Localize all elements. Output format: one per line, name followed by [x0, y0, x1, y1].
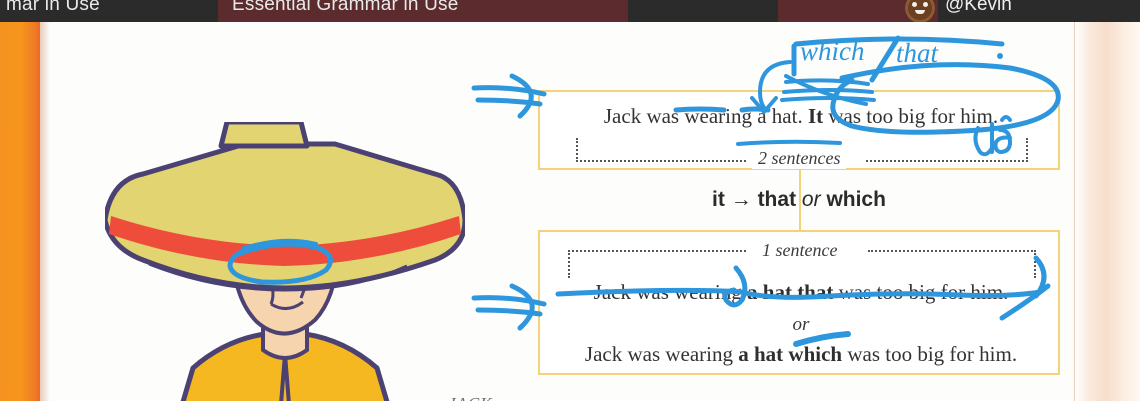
book-page: JACK Jack was wearing a hat. It was too …: [0, 22, 1140, 401]
one-sentence-text-that: Jack was wearing a hat that was too big …: [540, 280, 1062, 305]
topbar-title-left-partial[interactable]: mar in Use: [6, 0, 100, 16]
which-sentence-highlight: a hat which: [738, 342, 842, 366]
that-sentence-part-1: Jack was wearing: [594, 280, 747, 304]
transformation-rule: it → that or which: [538, 188, 1060, 212]
two-sentence-highlight-it: It: [808, 104, 823, 128]
two-sentence-caption: 2 sentences: [752, 148, 846, 169]
two-sentence-part-1: Jack was wearing a hat.: [604, 104, 808, 128]
rule-option-which: which: [826, 188, 886, 211]
avatar-eye-left: [912, 2, 917, 7]
two-sentence-text: Jack was wearing a hat. It was too big f…: [540, 104, 1062, 129]
illustration-caption: JACK: [448, 394, 493, 401]
bracket-line-left: [576, 160, 746, 162]
channel-handle[interactable]: @Kevin: [945, 0, 1012, 16]
two-sentence-part-3: was too big for him.: [823, 104, 998, 128]
bracket-tick-right-2: [1034, 250, 1036, 278]
grammar-diagram: Jack was wearing a hat. It was too big f…: [538, 68, 1060, 378]
bracket-line-left-2: [568, 250, 746, 252]
two-sentence-box: Jack was wearing a hat. It was too big f…: [538, 90, 1060, 170]
which-sentence-part-3: was too big for him.: [842, 342, 1017, 366]
page-binding-shadow: [40, 22, 50, 401]
page-binding-left: [0, 22, 40, 401]
which-sentence-part-1: Jack was wearing: [585, 342, 738, 366]
rule-subject: it: [712, 188, 725, 211]
topbar-segment-dark-2: [628, 0, 778, 22]
that-sentence-highlight: a hat that: [747, 280, 833, 304]
one-sentence-text-which: Jack was wearing a hat which was too big…: [540, 342, 1062, 367]
one-sentence-caption: 1 sentence: [756, 240, 843, 261]
bracket-tick-right: [1026, 138, 1028, 162]
that-sentence-part-3: was too big for him.: [833, 280, 1008, 304]
rule-option-that: that: [758, 188, 797, 211]
bracket-tick-left: [576, 138, 578, 162]
rule-arrow-icon: →: [731, 188, 752, 211]
player-top-bar: mar in Use Essential Grammar in Use @Kev…: [0, 0, 1140, 22]
or-separator: or: [540, 314, 1062, 336]
page-edge-right: [1075, 22, 1140, 401]
jack-cartoon: [105, 122, 465, 401]
rule-conjunction: or: [802, 188, 821, 211]
user-avatar-icon[interactable]: [905, 0, 935, 22]
bracket-line-right-2: [868, 250, 1036, 252]
topbar-title-center[interactable]: Essential Grammar in Use: [232, 0, 459, 16]
avatar-eye-right: [923, 2, 928, 7]
bracket-line-right: [866, 160, 1028, 162]
one-sentence-box: 1 sentence Jack was wearing a hat that w…: [538, 230, 1060, 375]
bracket-tick-left-2: [568, 250, 570, 278]
